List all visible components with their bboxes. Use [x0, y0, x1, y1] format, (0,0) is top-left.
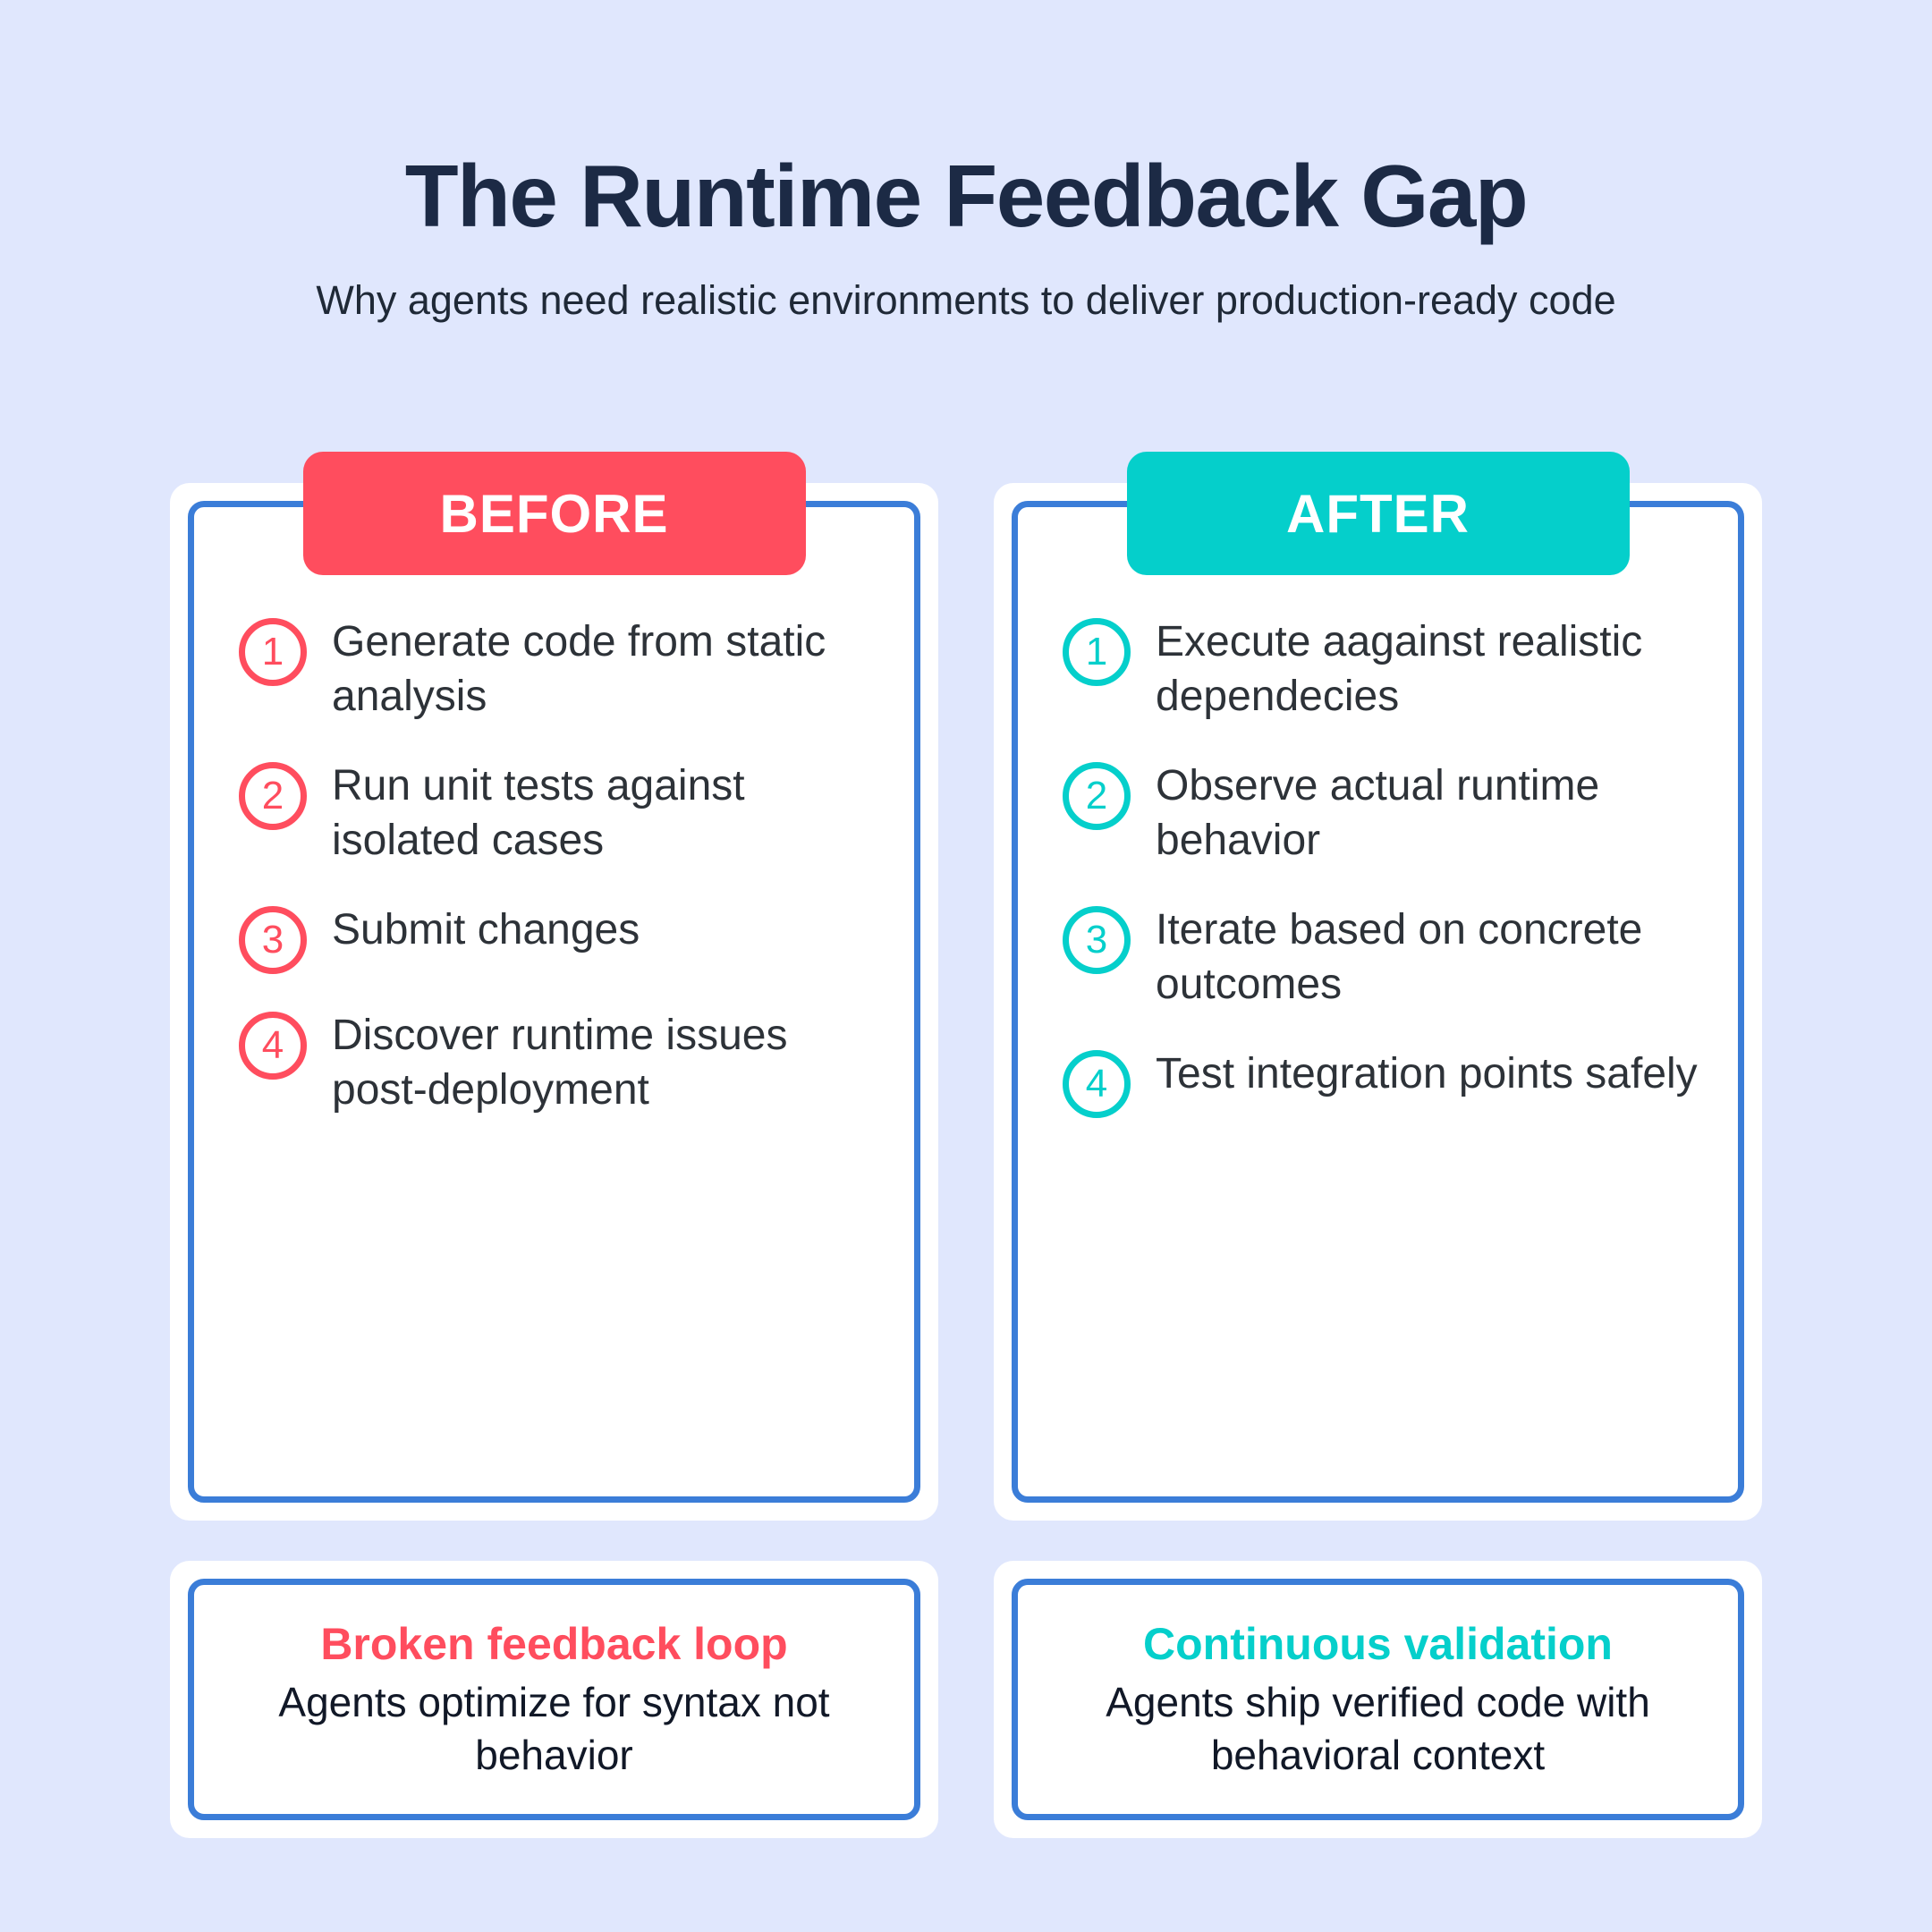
step-item: 4 Discover runtime issues post-deploymen… — [239, 1006, 880, 1118]
step-number-badge: 4 — [239, 1012, 307, 1080]
summary-body-before: Agents optimize for syntax not behavior — [219, 1676, 889, 1782]
step-label: Test integration points safely — [1156, 1045, 1698, 1101]
step-label: Run unit tests against isolated cases — [332, 757, 880, 869]
step-item: 2 Observe actual runtime behavior — [1063, 757, 1704, 869]
step-number-badge: 2 — [239, 762, 307, 830]
step-item: 3 Submit changes — [239, 901, 880, 974]
step-item: 4 Test integration points safely — [1063, 1045, 1704, 1118]
summary-card-before-inner: Broken feedback loop Agents optimize for… — [188, 1579, 920, 1820]
column-before: BEFORE 1 Generate code from static analy… — [170, 483, 938, 1521]
step-item: 1 Execute aagainst realistic dependecies — [1063, 613, 1704, 724]
step-number-badge: 3 — [239, 906, 307, 974]
step-item: 3 Iterate based on concrete outcomes — [1063, 901, 1704, 1013]
step-number-badge: 1 — [239, 618, 307, 686]
summary-card-before: Broken feedback loop Agents optimize for… — [170, 1561, 938, 1838]
step-label: Iterate based on concrete outcomes — [1156, 901, 1704, 1013]
summary-card-after-inner: Continuous validation Agents ship verifi… — [1012, 1579, 1744, 1820]
page-subtitle: Why agents need realistic environments t… — [0, 276, 1932, 325]
column-after: AFTER 1 Execute aagainst realistic depen… — [994, 483, 1762, 1521]
step-label: Execute aagainst realistic dependecies — [1156, 613, 1704, 724]
steps-before: 1 Generate code from static analysis 2 R… — [228, 613, 880, 1118]
steps-after: 1 Execute aagainst realistic dependecies… — [1052, 613, 1704, 1118]
comparison-columns: BEFORE 1 Generate code from static analy… — [170, 483, 1762, 1521]
summary-title-before: Broken feedback loop — [320, 1617, 787, 1671]
summary-title-after: Continuous validation — [1143, 1617, 1613, 1671]
step-label: Generate code from static analysis — [332, 613, 880, 724]
card-after: 1 Execute aagainst realistic dependecies… — [994, 483, 1762, 1521]
infographic-page: The Runtime Feedback Gap Why agents need… — [0, 0, 1932, 1932]
step-label: Discover runtime issues post-deployment — [332, 1006, 880, 1118]
badge-after: AFTER — [1127, 452, 1630, 575]
step-number-badge: 1 — [1063, 618, 1131, 686]
step-item: 1 Generate code from static analysis — [239, 613, 880, 724]
step-label: Submit changes — [332, 901, 640, 957]
step-number-badge: 4 — [1063, 1050, 1131, 1118]
page-title: The Runtime Feedback Gap — [0, 150, 1932, 242]
card-after-inner: 1 Execute aagainst realistic dependecies… — [1012, 501, 1744, 1503]
step-label: Observe actual runtime behavior — [1156, 757, 1704, 869]
step-item: 2 Run unit tests against isolated cases — [239, 757, 880, 869]
header: The Runtime Feedback Gap Why agents need… — [0, 0, 1932, 325]
badge-before: BEFORE — [303, 452, 806, 575]
card-before: 1 Generate code from static analysis 2 R… — [170, 483, 938, 1521]
step-number-badge: 2 — [1063, 762, 1131, 830]
step-number-badge: 3 — [1063, 906, 1131, 974]
summary-row: Broken feedback loop Agents optimize for… — [170, 1561, 1762, 1838]
card-before-inner: 1 Generate code from static analysis 2 R… — [188, 501, 920, 1503]
summary-body-after: Agents ship verified code with behaviora… — [1043, 1676, 1713, 1782]
summary-card-after: Continuous validation Agents ship verifi… — [994, 1561, 1762, 1838]
